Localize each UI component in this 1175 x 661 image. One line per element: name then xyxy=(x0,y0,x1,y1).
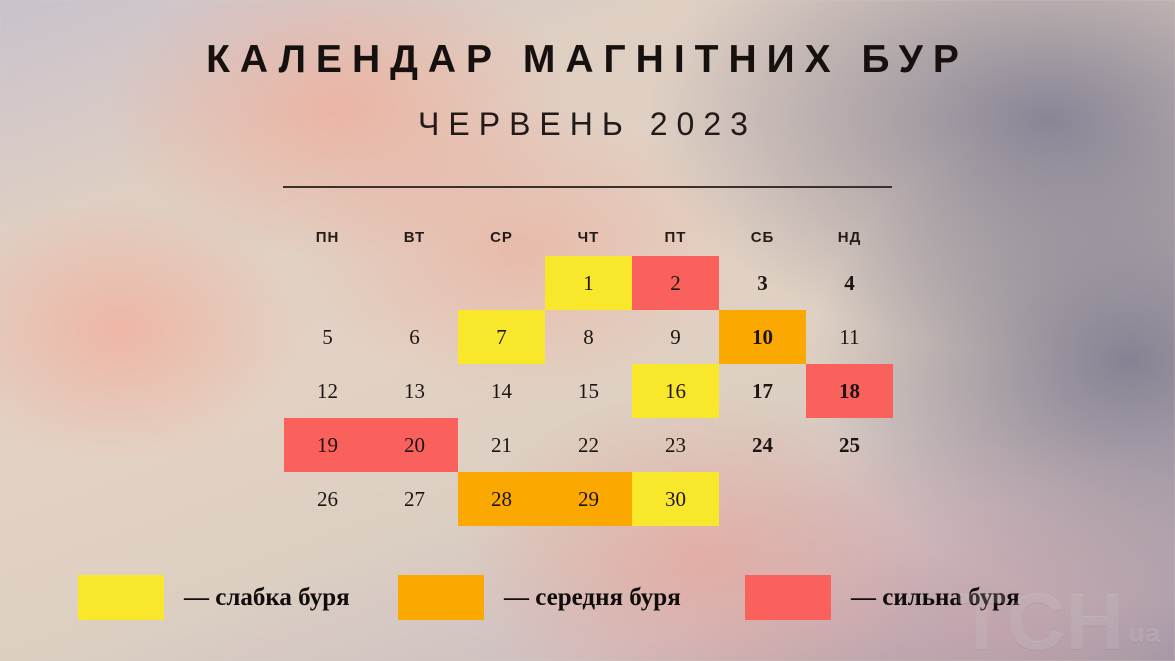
weekday-header-6: НД xyxy=(806,218,893,256)
calendar-day-cell[interactable]: 9 xyxy=(632,310,719,364)
calendar-day-cell[interactable]: 27 xyxy=(371,472,458,526)
calendar-day-cell[interactable]: 28 xyxy=(458,472,545,526)
calendar-day-cell[interactable]: 15 xyxy=(545,364,632,418)
calendar: ПНВТСРЧТПТСБНД 1234567891011121314151617… xyxy=(284,218,893,526)
calendar-day-grid: 1234567891011121314151617181920212223242… xyxy=(284,256,893,526)
calendar-cell-empty xyxy=(458,256,545,310)
calendar-day-cell[interactable]: 30 xyxy=(632,472,719,526)
calendar-day-cell[interactable]: 19 xyxy=(284,418,371,472)
legend-item-weak: — слабка буря xyxy=(78,575,350,620)
calendar-day-cell[interactable]: 13 xyxy=(371,364,458,418)
watermark-main-text: ТСН xyxy=(957,585,1124,659)
calendar-day-cell[interactable]: 22 xyxy=(545,418,632,472)
page-subtitle: ЧЕРВЕНЬ 2023 xyxy=(0,106,1175,143)
calendar-day-cell[interactable]: 3 xyxy=(719,256,806,310)
calendar-day-cell[interactable]: 6 xyxy=(371,310,458,364)
calendar-cell-empty xyxy=(719,472,806,526)
weekday-header-2: СР xyxy=(458,218,545,256)
legend-swatch-weak xyxy=(78,575,164,620)
legend-item-medium: — середня буря xyxy=(398,575,681,620)
calendar-day-cell[interactable]: 12 xyxy=(284,364,371,418)
calendar-day-cell[interactable]: 16 xyxy=(632,364,719,418)
watermark-sub-text: ua xyxy=(1129,618,1161,649)
calendar-day-cell[interactable]: 2 xyxy=(632,256,719,310)
legend-swatch-medium xyxy=(398,575,484,620)
calendar-day-cell[interactable]: 4 xyxy=(806,256,893,310)
calendar-day-cell[interactable]: 26 xyxy=(284,472,371,526)
calendar-day-cell[interactable]: 10 xyxy=(719,310,806,364)
calendar-cell-empty xyxy=(371,256,458,310)
calendar-day-cell[interactable]: 8 xyxy=(545,310,632,364)
calendar-cell-empty xyxy=(284,256,371,310)
tsn-watermark: ТСН ua xyxy=(957,585,1161,659)
weekday-header-3: ЧТ xyxy=(545,218,632,256)
calendar-day-cell[interactable]: 14 xyxy=(458,364,545,418)
weekday-header-1: ВТ xyxy=(371,218,458,256)
weekday-header-row: ПНВТСРЧТПТСБНД xyxy=(284,218,893,256)
calendar-day-cell[interactable]: 17 xyxy=(719,364,806,418)
legend-label-medium: — середня буря xyxy=(504,584,681,612)
legend-swatch-strong xyxy=(745,575,831,620)
page-title: КАЛЕНДАР МАГНІТНИХ БУР xyxy=(0,38,1175,82)
weekday-header-0: ПН xyxy=(284,218,371,256)
calendar-day-cell[interactable]: 25 xyxy=(806,418,893,472)
header-divider xyxy=(283,186,892,188)
calendar-day-cell[interactable]: 5 xyxy=(284,310,371,364)
calendar-cell-empty xyxy=(806,472,893,526)
weekday-header-4: ПТ xyxy=(632,218,719,256)
header: КАЛЕНДАР МАГНІТНИХ БУР ЧЕРВЕНЬ 2023 xyxy=(0,38,1175,143)
calendar-day-cell[interactable]: 24 xyxy=(719,418,806,472)
legend-label-weak: — слабка буря xyxy=(184,584,350,612)
calendar-day-cell[interactable]: 29 xyxy=(545,472,632,526)
weekday-header-5: СБ xyxy=(719,218,806,256)
calendar-day-cell[interactable]: 1 xyxy=(545,256,632,310)
calendar-day-cell[interactable]: 23 xyxy=(632,418,719,472)
calendar-day-cell[interactable]: 20 xyxy=(371,418,458,472)
calendar-day-cell[interactable]: 11 xyxy=(806,310,893,364)
calendar-day-cell[interactable]: 21 xyxy=(458,418,545,472)
calendar-day-cell[interactable]: 7 xyxy=(458,310,545,364)
calendar-day-cell[interactable]: 18 xyxy=(806,364,893,418)
